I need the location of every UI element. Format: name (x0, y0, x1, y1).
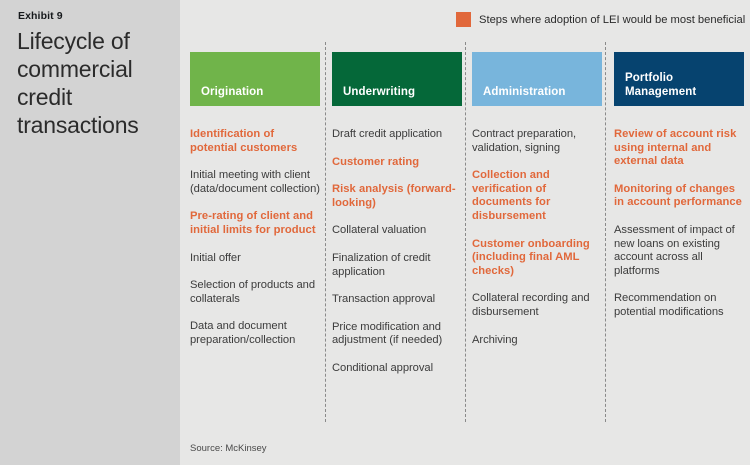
step-item: Recommendation on potential modification… (614, 292, 744, 319)
step-item: Initial meeting with client (data/docume… (190, 169, 320, 196)
stage-header-2[interactable]: Underwriting (332, 52, 462, 106)
stage-header-1[interactable]: Origination (190, 52, 320, 106)
step-item: Collateral valuation (332, 224, 462, 238)
stage-column: UnderwritingDraft credit applicationCust… (332, 52, 462, 390)
step-item: Transaction approval (332, 293, 462, 307)
step-item-highlighted: Monitoring of changes in account perform… (614, 183, 744, 210)
step-item: Selection of products and collaterals (190, 279, 320, 306)
page-title: Lifecycle of commercial credit transacti… (17, 27, 167, 139)
step-item-highlighted: Customer rating (332, 156, 462, 170)
step-item-highlighted: Pre-rating of client and initial limits … (190, 210, 320, 237)
step-item: Collateral recording and disbursement (472, 292, 602, 319)
stage-header-label: Origination (201, 86, 314, 100)
step-item-highlighted: Customer onboarding (including final AML… (472, 238, 602, 279)
stage-header-3[interactable]: Administration (472, 52, 602, 106)
step-item: Price modification and adjustment (if ne… (332, 321, 462, 348)
stage-header-label: Underwriting (343, 86, 456, 100)
source-note: Source: McKinsey (190, 443, 267, 454)
step-item: Archiving (472, 334, 602, 348)
step-item: Draft credit application (332, 128, 462, 142)
stage-header-label: Administration (483, 86, 596, 100)
step-item: Contract preparation, validation, signin… (472, 128, 602, 155)
title-panel: Exhibit 9 Lifecycle of commercial credit… (0, 0, 180, 465)
step-item: Initial offer (190, 252, 320, 266)
step-item-highlighted: Identification of potential customers (190, 128, 320, 155)
step-item: Data and document preparation/collection (190, 320, 320, 347)
exhibit-label: Exhibit 9 (18, 10, 63, 22)
step-item: Conditional approval (332, 362, 462, 376)
stage-column: Portfolio ManagementReview of account ri… (614, 52, 744, 334)
step-item-highlighted: Collection and verification of documents… (472, 169, 602, 223)
stage-header-label: Portfolio Management (625, 72, 738, 99)
stage-header-4[interactable]: Portfolio Management (614, 52, 744, 106)
step-item-highlighted: Risk analysis (forward-looking) (332, 183, 462, 210)
step-item: Assessment of impact of new loans on exi… (614, 224, 744, 278)
content-area: Steps where adoption of LEI would be mos… (180, 0, 750, 465)
stage-column: AdministrationContract preparation, vali… (472, 52, 602, 361)
step-item: Finalization of credit application (332, 252, 462, 279)
step-item-highlighted: Review of account risk using internal an… (614, 128, 744, 169)
stage-columns: OriginationIdentification of potential c… (180, 0, 750, 465)
stage-column: OriginationIdentification of potential c… (190, 52, 320, 362)
